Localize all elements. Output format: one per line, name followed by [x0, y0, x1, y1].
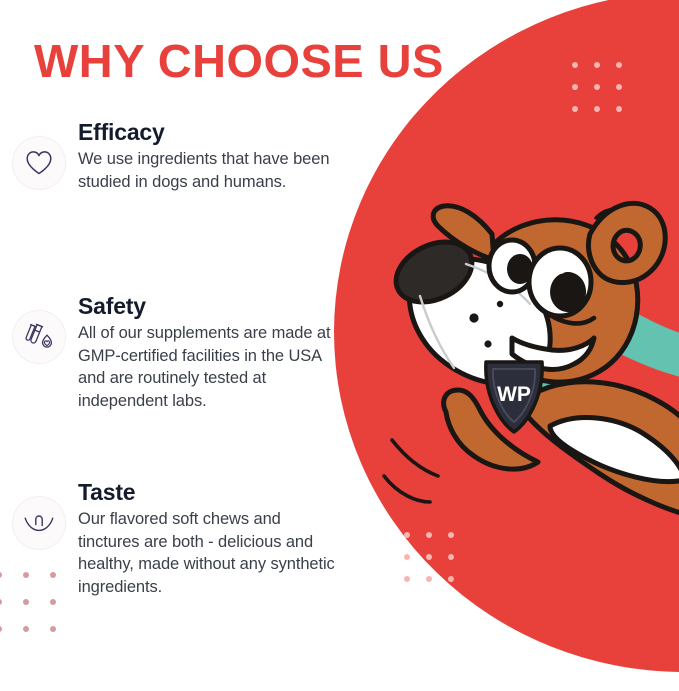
feature-text-block: Efficacy We use ingredients that have be…	[78, 118, 336, 193]
why-choose-us-graphic: WHY CHOOSE US Efficacy We use ingredient…	[0, 0, 679, 691]
dot	[23, 626, 29, 632]
dot	[594, 62, 600, 68]
dot	[0, 572, 2, 578]
dot	[50, 626, 56, 632]
feature-description: We use ingredients that have been studie…	[78, 148, 336, 194]
dot	[0, 599, 2, 605]
heart-icon	[12, 136, 66, 190]
freckle	[484, 340, 491, 347]
feature-description: Our flavored soft chews and tinctures ar…	[78, 508, 336, 599]
dot-grid-top-right	[572, 62, 638, 128]
feature-item-efficacy: Efficacy We use ingredients that have be…	[12, 118, 336, 193]
motion-arcs-bottom	[384, 440, 438, 502]
feature-description: All of our supplements are made at GMP-c…	[78, 322, 336, 413]
tongue-icon	[12, 496, 66, 550]
test-tubes-icon	[12, 310, 66, 364]
feature-title: Taste	[78, 478, 336, 507]
dot	[616, 62, 622, 68]
badge-label: WP	[497, 383, 531, 406]
dot	[572, 84, 578, 90]
dot	[594, 106, 600, 112]
dot	[0, 626, 2, 632]
dot	[616, 84, 622, 90]
feature-title: Efficacy	[78, 118, 336, 147]
feature-item-taste: Taste Our flavored soft chews and tinctu…	[12, 478, 336, 599]
dot	[572, 62, 578, 68]
freckle	[497, 301, 503, 307]
feature-item-safety: Safety All of our supplements are made a…	[12, 292, 336, 413]
feature-text-block: Taste Our flavored soft chews and tinctu…	[78, 478, 336, 599]
freckle	[469, 313, 478, 322]
dot	[23, 599, 29, 605]
dot	[594, 84, 600, 90]
feature-text-block: Safety All of our supplements are made a…	[78, 292, 336, 413]
dot	[50, 599, 56, 605]
page-title: WHY CHOOSE US	[34, 38, 444, 84]
dot	[616, 106, 622, 112]
dot	[572, 106, 578, 112]
running-dog-illustration: WP	[378, 168, 679, 608]
feature-title: Safety	[78, 292, 336, 321]
